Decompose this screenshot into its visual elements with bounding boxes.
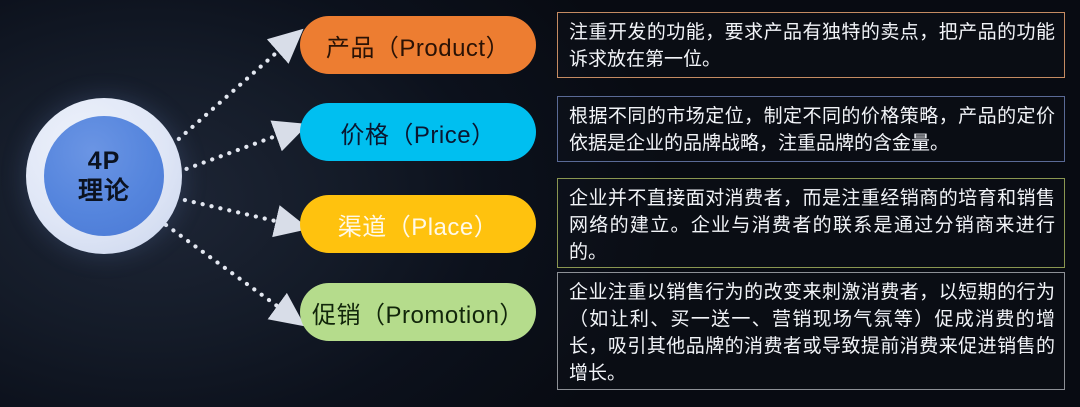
connector-price bbox=[178, 133, 284, 172]
center-node-fill: 4P 理论 bbox=[44, 116, 164, 236]
description-promotion: 企业注重以销售行为的改变来刺激消费者，以短期的行为（如让利、买一送一、营销现场气… bbox=[557, 272, 1065, 390]
pill-product[interactable]: 产品（Product） bbox=[300, 16, 536, 74]
description-price: 根据不同的市场定位，制定不同的价格策略，产品的定价依据是企业的品牌战略，注重品牌… bbox=[557, 96, 1065, 162]
connector-promotion bbox=[166, 225, 284, 311]
diagram-canvas: 4P 理论 产品（Product） 价格（Price） 渠道（Place） 促销… bbox=[0, 0, 1080, 407]
center-node-line-1: 4P bbox=[88, 147, 121, 175]
pill-promotion[interactable]: 促销（Promotion） bbox=[300, 283, 536, 341]
description-place: 企业并不直接面对消费者，而是注重经销商的培育和销售网络的建立。企业与消费者的联系… bbox=[557, 178, 1065, 268]
description-product: 注重开发的功能，要求产品有独特的卖点，把产品的功能诉求放在第一位。 bbox=[557, 12, 1065, 78]
pill-price[interactable]: 价格（Price） bbox=[300, 103, 536, 161]
connector-place bbox=[176, 198, 284, 223]
center-node-line-2: 理论 bbox=[78, 177, 130, 205]
center-node[interactable]: 4P 理论 bbox=[26, 98, 182, 254]
connector-product bbox=[172, 46, 284, 145]
pill-place[interactable]: 渠道（Place） bbox=[300, 195, 536, 253]
